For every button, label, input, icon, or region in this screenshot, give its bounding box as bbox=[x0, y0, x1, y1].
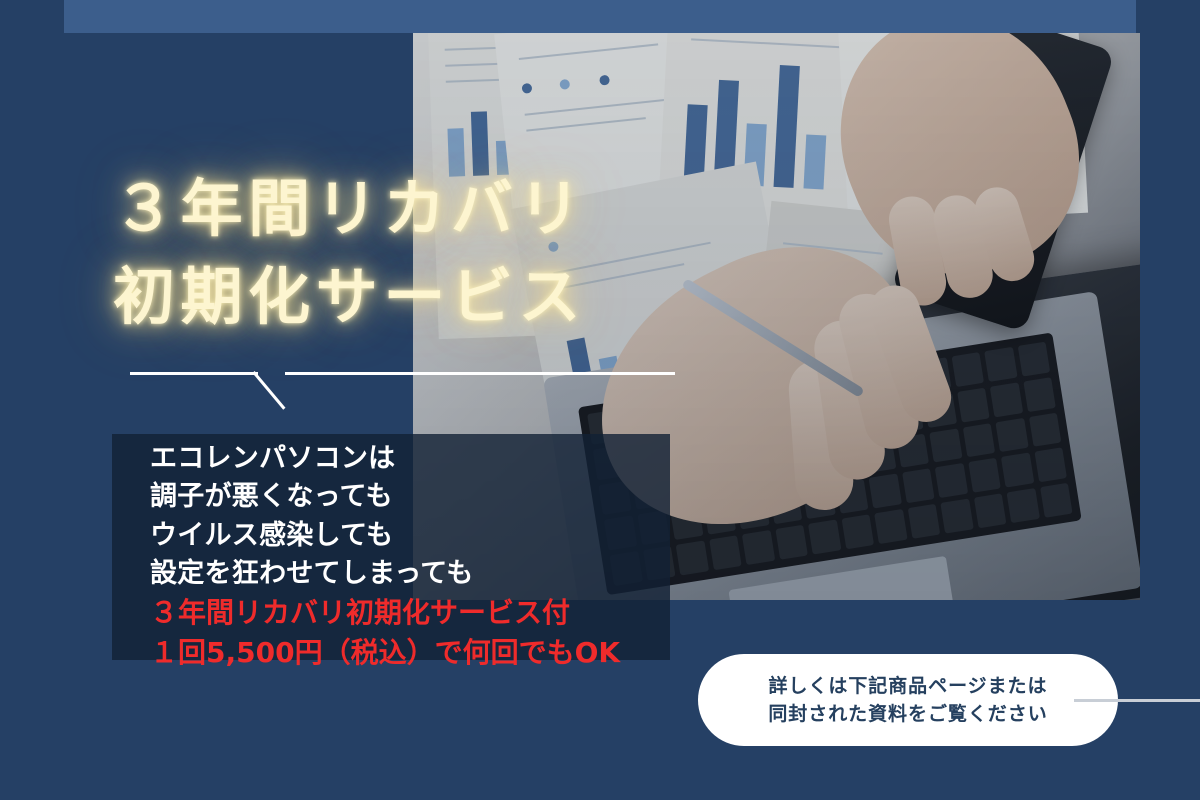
decorative-rule bbox=[130, 372, 675, 412]
more-info-pill[interactable]: 詳しくは下記商品ページまたは 同封された資料をご覧ください bbox=[698, 654, 1118, 746]
more-info-pill-text: 詳しくは下記商品ページまたは 同封された資料をご覧ください bbox=[768, 672, 1047, 729]
body-copy-line: 設定を狂わせてしまっても bbox=[150, 555, 690, 593]
body-copy-line: エコレンパソコンは bbox=[150, 440, 690, 478]
rule-diagonal-segment bbox=[252, 371, 285, 410]
banner-root: ３年間リカバリ 初期化サービス エコレンパソコンは 調子が悪くなっても ウイルス… bbox=[0, 0, 1200, 800]
body-copy-line: 調子が悪くなっても bbox=[150, 478, 690, 516]
top-accent-bar bbox=[64, 0, 1136, 33]
rule-segment-right bbox=[285, 372, 675, 375]
highlight-line-price: １回5,500円（税込）で何回でもOK bbox=[150, 633, 690, 673]
page-title: ３年間リカバリ 初期化サービス bbox=[113, 165, 873, 341]
rule-segment-left bbox=[130, 372, 258, 375]
body-copy-line: ウイルス感染しても bbox=[150, 517, 690, 555]
highlight-line-service: ３年間リカバリ初期化サービス付 bbox=[150, 593, 690, 633]
pill-trailing-line bbox=[1074, 699, 1200, 702]
body-copy: エコレンパソコンは 調子が悪くなっても ウイルス感染しても 設定を狂わせてしまっ… bbox=[150, 440, 690, 673]
